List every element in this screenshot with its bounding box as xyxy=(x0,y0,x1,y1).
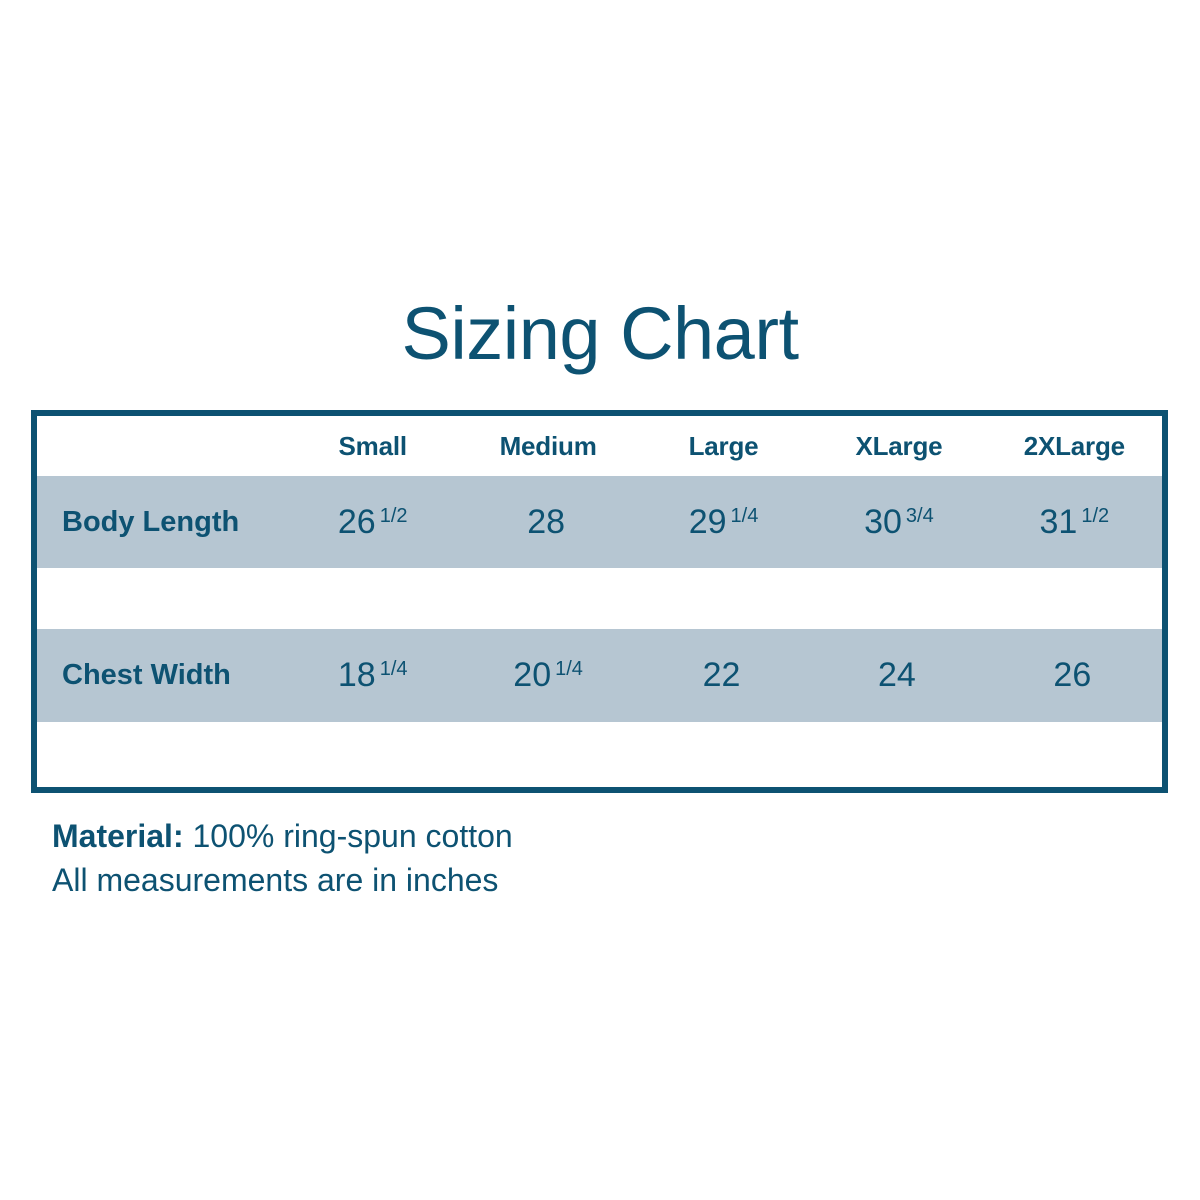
chest-width-cells: Chest Width 181/4 201/4 22 24 26 xyxy=(37,629,1162,722)
cell-body-length-2xlarge: 311/2 xyxy=(987,503,1162,542)
cell-whole: 18 xyxy=(338,656,376,694)
cell-chest-width-2xlarge: 26 xyxy=(987,656,1162,695)
cell-fraction: 3/4 xyxy=(906,505,934,527)
cell-body-length-medium: 28 xyxy=(460,503,635,542)
cell-fraction: 1/2 xyxy=(380,505,408,527)
header-cells: Small Medium Large XLarge 2XLarge xyxy=(37,416,1162,476)
cell-whole: 20 xyxy=(513,656,551,694)
cell-chest-width-small: 181/4 xyxy=(285,656,460,695)
measurement-note: All measurements are in inches xyxy=(52,858,513,902)
material-label: Material: xyxy=(52,818,184,854)
row-label-chest-width: Chest Width xyxy=(37,659,285,692)
cell-whole: 28 xyxy=(527,503,565,541)
cell-whole: 29 xyxy=(689,503,727,541)
cell-body-length-large: 291/4 xyxy=(636,503,811,542)
table-header-row: Small Medium Large XLarge 2XLarge xyxy=(37,416,1162,476)
cell-whole: 31 xyxy=(1040,503,1078,541)
table-row: Body Length 261/2 28 291/4 303/4 311 xyxy=(37,476,1162,568)
column-header-large: Large xyxy=(636,431,811,462)
cell-body-length-small: 261/2 xyxy=(285,503,460,542)
cell-whole: 24 xyxy=(878,656,916,694)
size-table-inner: Small Medium Large XLarge 2XLarge Body L… xyxy=(37,416,1162,787)
column-header-2xlarge: 2XLarge xyxy=(987,431,1162,462)
column-header-medium: Medium xyxy=(460,431,635,462)
table-spacer-row xyxy=(37,722,1162,787)
cell-chest-width-medium: 201/4 xyxy=(460,656,635,695)
column-header-xlarge: XLarge xyxy=(811,431,986,462)
table-spacer-row xyxy=(37,568,1162,629)
cell-whole: 22 xyxy=(703,656,741,694)
cell-whole: 26 xyxy=(1053,656,1091,694)
footer-notes: Material: 100% ring-spun cotton All meas… xyxy=(52,814,513,902)
body-length-cells: Body Length 261/2 28 291/4 303/4 311 xyxy=(37,476,1162,568)
cell-fraction: 1/4 xyxy=(380,658,408,680)
cell-fraction: 1/4 xyxy=(731,505,759,527)
sizing-chart-page: Sizing Chart Small Medium Large XLarge 2… xyxy=(0,0,1200,1200)
cell-fraction: 1/2 xyxy=(1081,505,1109,527)
row-label-body-length: Body Length xyxy=(37,506,285,539)
column-header-small: Small xyxy=(285,431,460,462)
cell-chest-width-xlarge: 24 xyxy=(811,656,986,695)
material-note: Material: 100% ring-spun cotton xyxy=(52,814,513,858)
cell-body-length-xlarge: 303/4 xyxy=(811,503,986,542)
cell-fraction: 1/4 xyxy=(555,658,583,680)
cell-whole: 26 xyxy=(338,503,376,541)
page-title: Sizing Chart xyxy=(0,291,1200,377)
size-table: Small Medium Large XLarge 2XLarge Body L… xyxy=(31,410,1168,793)
table-row: Chest Width 181/4 201/4 22 24 26 xyxy=(37,629,1162,722)
material-value: 100% ring-spun cotton xyxy=(192,818,512,854)
cell-whole: 30 xyxy=(864,503,902,541)
cell-chest-width-large: 22 xyxy=(636,656,811,695)
